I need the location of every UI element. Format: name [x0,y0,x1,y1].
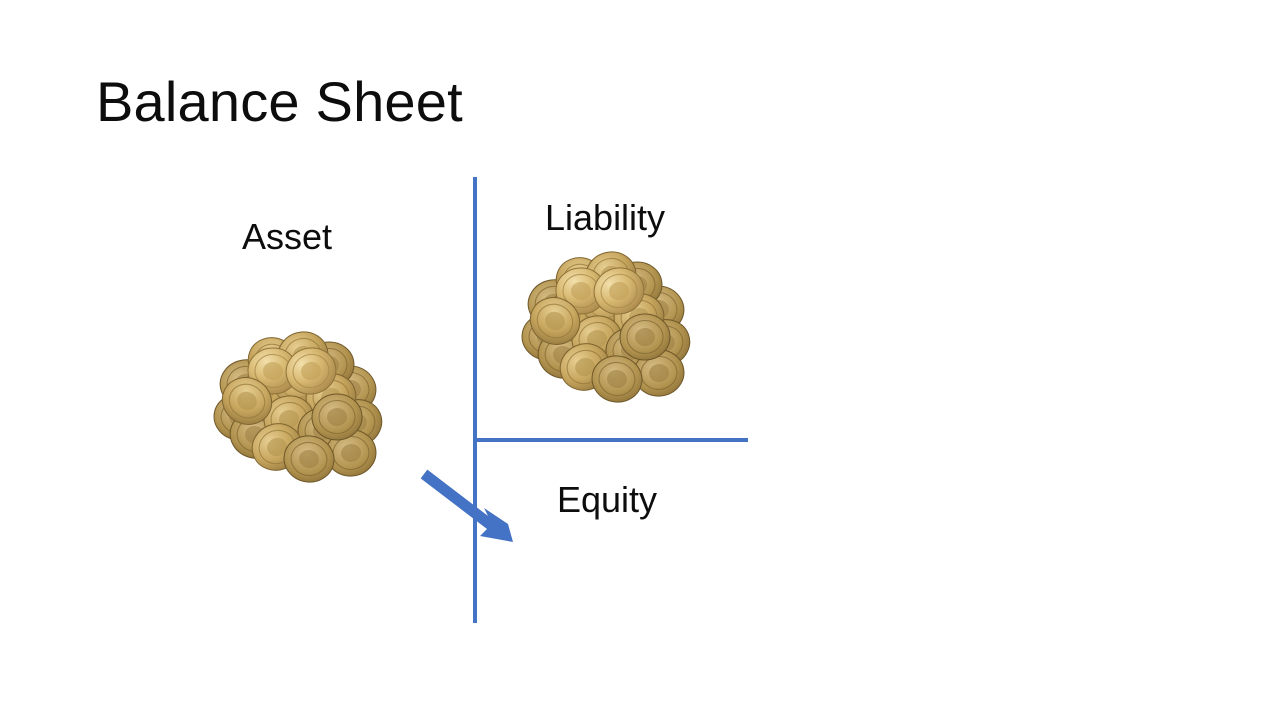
coin-pile-icon-liability [519,251,691,409]
coin-pile-icon-asset [211,331,383,489]
divider-horizontal-line [473,438,748,442]
label-equity: Equity [557,482,657,518]
page-title: Balance Sheet [96,74,463,130]
label-liability: Liability [545,200,665,236]
arrow-down-right-icon [412,462,528,558]
label-asset: Asset [242,219,332,255]
slide-canvas: Balance Sheet Asset Liability Equity [0,0,1280,720]
